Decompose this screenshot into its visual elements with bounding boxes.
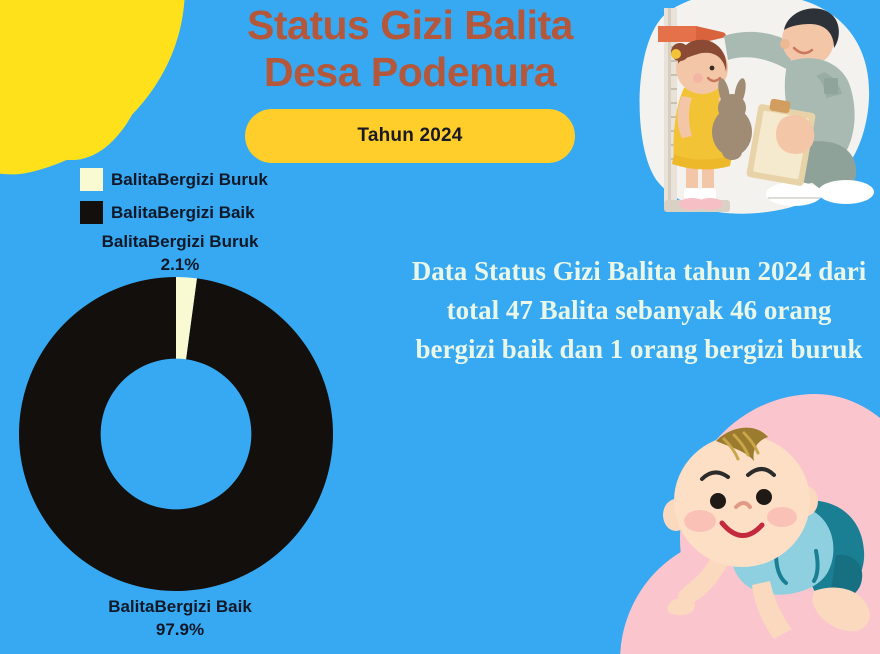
slice-label-buruk: BalitaBergizi Buruk 2.1% <box>0 230 360 276</box>
year-badge-label: Tahun 2024 <box>357 125 462 147</box>
legend-item-baik: BalitaBergizi Baik <box>80 196 268 229</box>
poster-header: Status Gizi Balita Desa Podenura Tahun 2… <box>180 0 640 163</box>
slice-label-buruk-name: BalitaBergizi Buruk <box>102 232 259 251</box>
crawling-baby-illustration <box>640 405 880 654</box>
slice-label-buruk-value: 2.1% <box>161 255 200 274</box>
donut-hole <box>102 360 251 509</box>
chart-legend: BalitaBergizi Buruk BalitaBergizi Baik <box>80 163 268 229</box>
legend-item-buruk: BalitaBergizi Buruk <box>80 163 268 196</box>
donut-chart-svg <box>19 277 333 591</box>
slice-label-baik-name: BalitaBergizi Baik <box>108 597 252 616</box>
summary-text: Data Status Gizi Balita tahun 2024 dari … <box>404 252 874 369</box>
year-badge: Tahun 2024 <box>245 109 575 163</box>
legend-swatch-icon-buruk <box>80 168 103 191</box>
infographic-poster: Status Gizi Balita Desa Podenura Tahun 2… <box>0 0 880 654</box>
donut-chart: BalitaBergizi Buruk 2.1% BalitaBergizi B… <box>0 230 360 650</box>
legend-label-baik: BalitaBergizi Baik <box>111 203 255 223</box>
slice-label-baik-value: 97.9% <box>156 620 204 639</box>
measuring-height-illustration <box>628 0 880 224</box>
page-title: Status Gizi Balita Desa Podenura <box>180 0 640 96</box>
legend-label-buruk: BalitaBergizi Buruk <box>111 170 268 190</box>
page-title-line-2: Desa Podenura <box>264 49 556 95</box>
page-title-line-1: Status Gizi Balita <box>247 2 573 48</box>
yellow-blob-top-left-secondary <box>0 0 160 160</box>
legend-swatch-icon-baik <box>80 201 103 224</box>
slice-label-baik: BalitaBergizi Baik 97.9% <box>0 595 360 641</box>
